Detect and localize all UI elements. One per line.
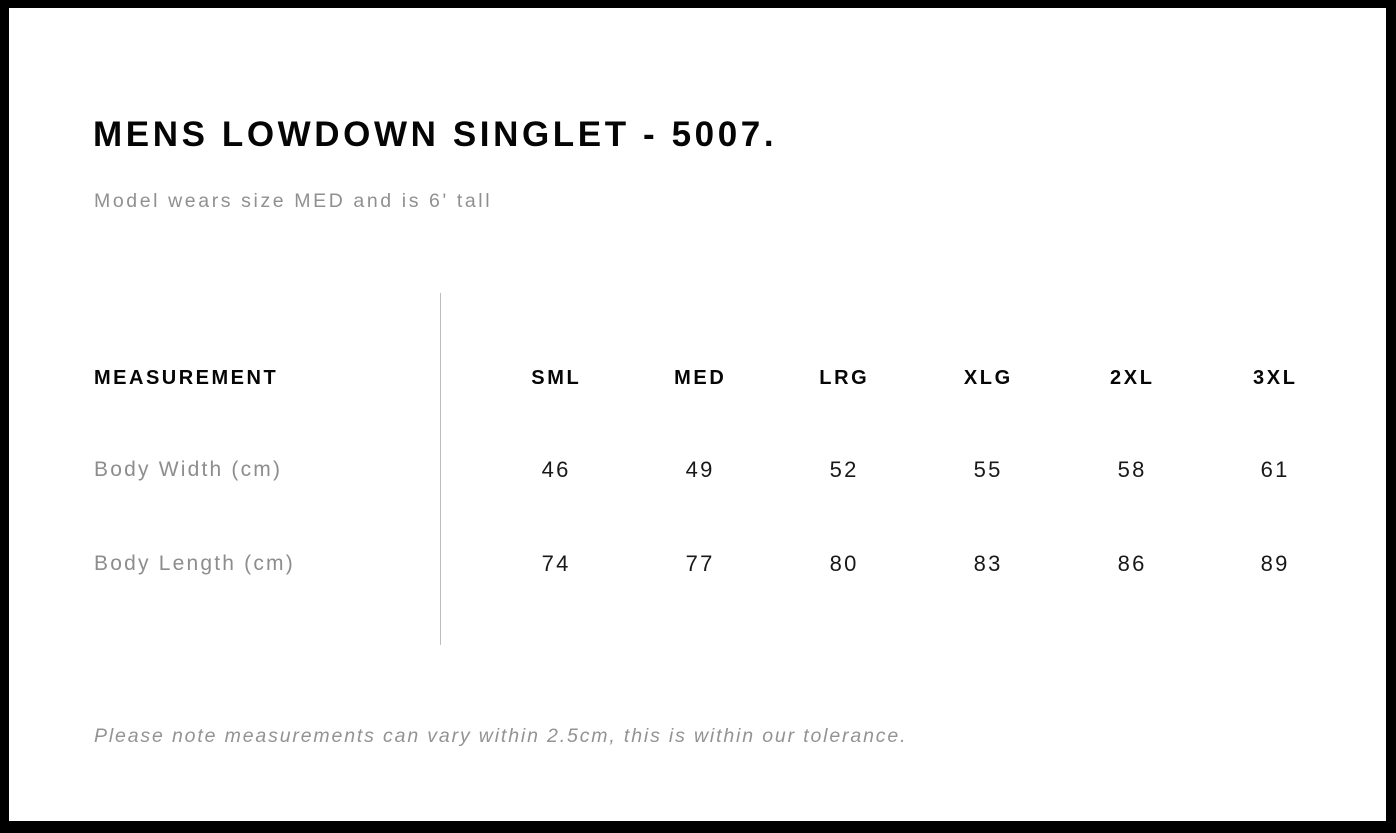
cell-body-length-med: 77 bbox=[639, 546, 759, 582]
column-header-measurement: MEASUREMENT bbox=[94, 360, 278, 396]
table-row: Body Length (cm) 74 77 80 83 86 89 bbox=[9, 546, 1386, 582]
cell-body-width-sml: 46 bbox=[495, 452, 615, 488]
size-chart-sheet: MENS LOWDOWN SINGLET - 5007. Model wears… bbox=[9, 8, 1386, 821]
cell-body-width-lrg: 52 bbox=[783, 452, 903, 488]
cell-body-length-sml: 74 bbox=[495, 546, 615, 582]
cell-body-length-xlg: 83 bbox=[927, 546, 1047, 582]
column-header-lrg: LRG bbox=[783, 360, 903, 396]
cell-body-length-3xl: 89 bbox=[1214, 546, 1334, 582]
column-header-3xl: 3XL bbox=[1214, 360, 1334, 396]
column-header-2xl: 2XL bbox=[1071, 360, 1191, 396]
page-border-frame: MENS LOWDOWN SINGLET - 5007. Model wears… bbox=[0, 0, 1396, 833]
column-header-sml: SML bbox=[495, 360, 615, 396]
column-header-med: MED bbox=[639, 360, 759, 396]
table-header-row: MEASUREMENT SML MED LRG XLG 2XL 3XL bbox=[9, 360, 1386, 396]
column-header-xlg: XLG bbox=[927, 360, 1047, 396]
table-row: Body Width (cm) 46 49 52 55 58 61 bbox=[9, 452, 1386, 488]
cell-body-width-3xl: 61 bbox=[1214, 452, 1334, 488]
cell-body-length-2xl: 86 bbox=[1071, 546, 1191, 582]
size-chart-table: MEASUREMENT SML MED LRG XLG 2XL 3XL Body… bbox=[9, 8, 1386, 821]
cell-body-width-med: 49 bbox=[639, 452, 759, 488]
cell-body-length-lrg: 80 bbox=[783, 546, 903, 582]
cell-body-width-xlg: 55 bbox=[927, 452, 1047, 488]
cell-body-width-2xl: 58 bbox=[1071, 452, 1191, 488]
tolerance-note: Please note measurements can vary within… bbox=[94, 725, 907, 748]
row-label-body-width: Body Width (cm) bbox=[94, 452, 282, 488]
row-label-body-length: Body Length (cm) bbox=[94, 546, 295, 582]
